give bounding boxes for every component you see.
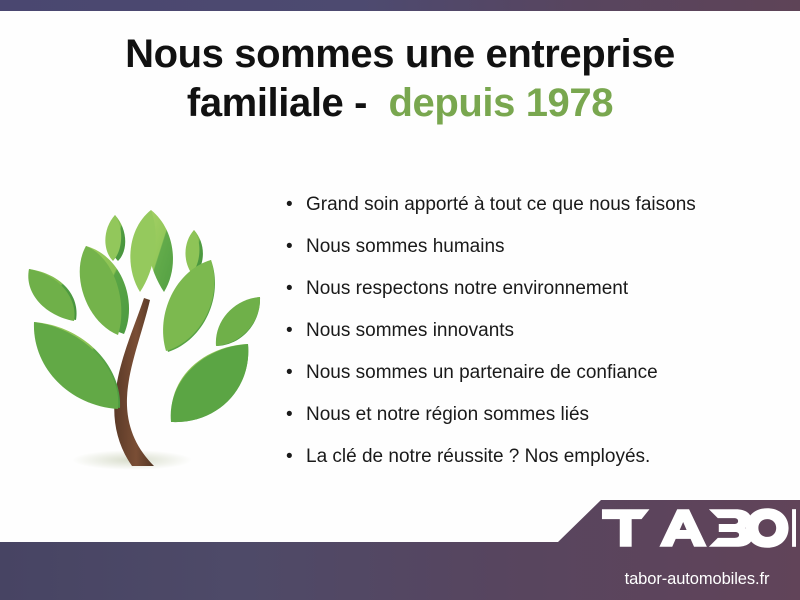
benefits-list: • Grand soin apporté à tout ce que nous … (286, 192, 786, 486)
title-line-2-main: familiale - (187, 81, 367, 125)
slide-canvas: Nous sommes une entreprise familiale - d… (0, 0, 800, 600)
list-item: • Nous sommes innovants (286, 318, 786, 360)
leaf-lower-right-b (171, 344, 249, 422)
list-item: • Nous respectons notre environnement (286, 276, 786, 318)
list-item-label: Grand soin apporté à tout ce que nous fa… (306, 192, 696, 218)
logo-tagline: tabor-automobiles.fr (598, 570, 796, 589)
leaf-top-center-b (130, 210, 155, 292)
list-item-label: Nous sommes humains (306, 234, 505, 260)
title-line-1: Nous sommes une entreprise (0, 30, 800, 79)
list-item-label: Nous sommes un partenaire de confiance (306, 360, 658, 386)
top-accent-band (0, 0, 800, 11)
list-item-label: Nous sommes innovants (306, 318, 514, 344)
page-title: Nous sommes une entreprise familiale - d… (0, 30, 800, 128)
list-item-label: La clé de notre réussite ? Nos employés. (306, 444, 650, 470)
leaf-right-small-b (216, 297, 260, 346)
bullet-marker-icon: • (286, 318, 306, 344)
tree-illustration (14, 182, 276, 484)
list-item: • La clé de notre réussite ? Nos employé… (286, 444, 786, 486)
bullet-marker-icon: • (286, 402, 306, 428)
bullet-marker-icon: • (286, 360, 306, 386)
bullet-marker-icon: • (286, 192, 306, 218)
list-item-label: Nous respectons notre environnement (306, 276, 628, 302)
list-item: • Nous sommes humains (286, 234, 786, 276)
list-item: • Nous sommes un partenaire de confiance (286, 360, 786, 402)
bullet-marker-icon: • (286, 234, 306, 260)
leaf-left-upper-b (80, 246, 122, 335)
list-item-label: Nous et notre région sommes liés (306, 402, 589, 428)
bullet-marker-icon: • (286, 444, 306, 470)
title-line-2-accent: depuis 1978 (388, 81, 613, 125)
logo-wordmark-tabor (598, 505, 796, 551)
title-line-2: familiale - depuis 1978 (0, 79, 800, 128)
list-item: • Grand soin apporté à tout ce que nous … (286, 192, 786, 234)
bullet-marker-icon: • (286, 276, 306, 302)
list-item: • Nous et notre région sommes liés (286, 402, 786, 444)
brand-logo[interactable]: tabor-automobiles.fr (598, 505, 796, 589)
